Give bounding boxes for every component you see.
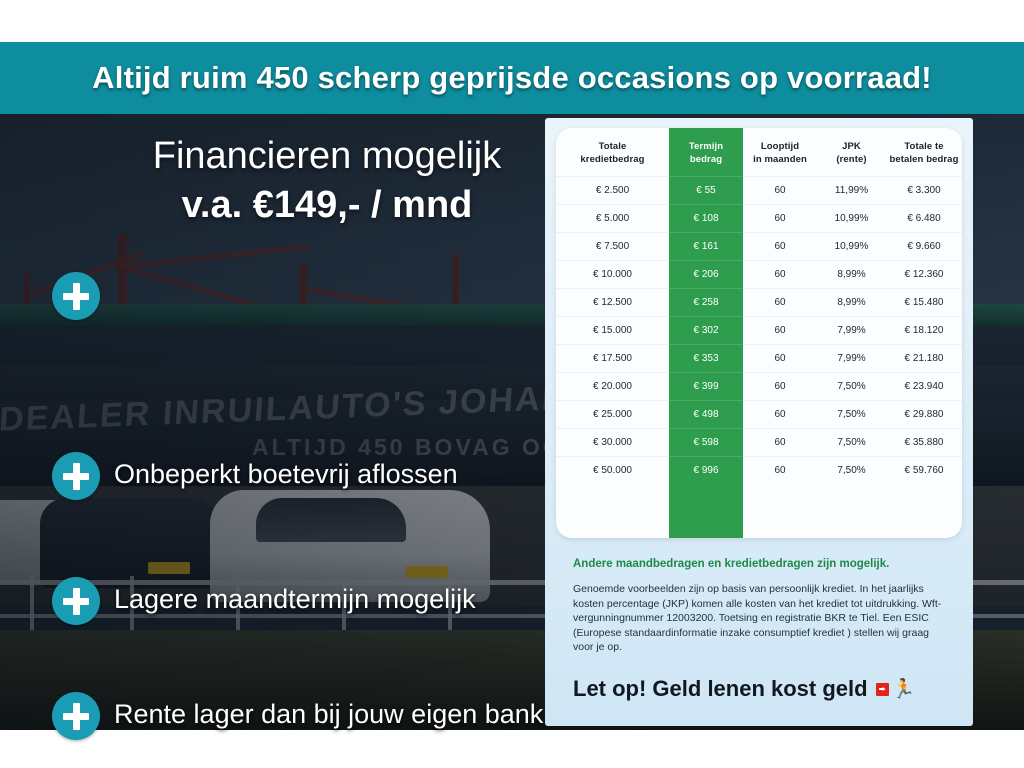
table-row: € 20.000€ 399607,50%€ 23.940	[556, 373, 962, 401]
table-cell: 60	[743, 457, 817, 485]
table-cell: 7,50%	[817, 457, 886, 485]
table-cell: € 353	[669, 345, 743, 373]
feature-item-label: Lagere maandtermijn mogelijk	[114, 584, 476, 615]
table-cell: € 35.880	[886, 429, 962, 457]
header-line: Termijn	[689, 141, 723, 152]
table-cell: 60	[743, 429, 817, 457]
header-line: betalen bedrag	[890, 154, 959, 165]
finance-table-head: Totale kredietbedrag Termijn bedrag Loop…	[556, 128, 962, 177]
table-row: € 2.500€ 556011,99%€ 3.300	[556, 177, 962, 205]
finance-info-card: Totale kredietbedrag Termijn bedrag Loop…	[545, 118, 973, 726]
column-header-termijn: Termijn bedrag	[669, 128, 743, 177]
table-cell: € 15.000	[556, 317, 669, 345]
table-cell: 8,99%	[817, 289, 886, 317]
table-cell: € 10.000	[556, 261, 669, 289]
table-cell: € 206	[669, 261, 743, 289]
table-cell: 60	[743, 177, 817, 205]
table-cell: € 55	[669, 177, 743, 205]
table-cell: € 18.120	[886, 317, 962, 345]
warning-text: Let op! Geld lenen kost geld	[573, 676, 868, 702]
column-header-totaal: Totale te betalen bedrag	[886, 128, 962, 177]
disclaimer-heading: Andere maandbedragen en kredietbedragen …	[573, 556, 945, 572]
table-cell: € 5.000	[556, 205, 669, 233]
table-cell: 60	[743, 289, 817, 317]
top-white-strip	[0, 0, 1024, 42]
headline-banner: Altijd ruim 450 scherp geprijsde occasio…	[0, 42, 1024, 114]
table-cell: € 30.000	[556, 429, 669, 457]
table-cell: € 258	[669, 289, 743, 317]
column-header-krediet: Totale kredietbedrag	[556, 128, 669, 177]
hero-line-1: Financieren mogelijk	[112, 132, 542, 180]
afm-red-box-icon	[876, 683, 889, 696]
hero-line-2: v.a. €149,- / mnd	[112, 180, 542, 230]
feature-item-label: Onbeperkt boetevrij aflossen	[114, 459, 458, 490]
column-header-looptijd: Looptijd in maanden	[743, 128, 817, 177]
plus-circle-icon	[52, 452, 100, 500]
table-header-row: Totale kredietbedrag Termijn bedrag Loop…	[556, 128, 962, 177]
header-line: Looptijd	[761, 141, 799, 152]
table-cell: 7,50%	[817, 373, 886, 401]
table-row: € 5.000€ 1086010,99%€ 6.480	[556, 205, 962, 233]
table-cell: 7,99%	[817, 345, 886, 373]
table-cell: € 498	[669, 401, 743, 429]
table-cell: € 161	[669, 233, 743, 261]
plus-circle-icon	[52, 272, 100, 320]
table-cell: 8,99%	[817, 261, 886, 289]
table-row: € 30.000€ 598607,50%€ 35.880	[556, 429, 962, 457]
afm-running-man-icon: 🏃	[876, 680, 916, 699]
table-cell: € 59.760	[886, 457, 962, 485]
table-cell: € 20.000	[556, 373, 669, 401]
finance-table: Totale kredietbedrag Termijn bedrag Loop…	[556, 128, 962, 484]
table-row: € 12.500€ 258608,99%€ 15.480	[556, 289, 962, 317]
table-cell: 11,99%	[817, 177, 886, 205]
header-line: Totale	[599, 141, 627, 152]
finance-table-card: Totale kredietbedrag Termijn bedrag Loop…	[556, 128, 962, 538]
table-cell: € 12.360	[886, 261, 962, 289]
table-cell: € 17.500	[556, 345, 669, 373]
table-cell: 60	[743, 261, 817, 289]
header-line: kredietbedrag	[580, 154, 644, 165]
table-cell: € 996	[669, 457, 743, 485]
table-cell: € 25.000	[556, 401, 669, 429]
table-cell: 60	[743, 373, 817, 401]
table-cell: € 3.300	[886, 177, 962, 205]
table-cell: 10,99%	[817, 233, 886, 261]
table-row: € 17.500€ 353607,99%€ 21.180	[556, 345, 962, 373]
table-cell: € 21.180	[886, 345, 962, 373]
table-cell: 60	[743, 205, 817, 233]
table-cell: 10,99%	[817, 205, 886, 233]
table-cell: € 598	[669, 429, 743, 457]
table-cell: € 9.660	[886, 233, 962, 261]
table-cell: 60	[743, 345, 817, 373]
column-header-jkp: JPK (rente)	[817, 128, 886, 177]
header-line: bedrag	[690, 154, 722, 165]
disclaimer-block: Andere maandbedragen en kredietbedragen …	[573, 556, 945, 655]
disclaimer-body: Genoemde voorbeelden zijn op basis van p…	[573, 582, 945, 655]
table-row: € 50.000€ 996607,50%€ 59.760	[556, 457, 962, 485]
table-cell: € 15.480	[886, 289, 962, 317]
table-cell: € 12.500	[556, 289, 669, 317]
table-cell: € 29.880	[886, 401, 962, 429]
header-line: (rente)	[836, 154, 866, 165]
running-man-glyph: 🏃	[892, 680, 916, 699]
feature-list: Financieren mogelijk v.a. €149,- / mnd O…	[0, 114, 545, 730]
table-cell: 7,50%	[817, 401, 886, 429]
table-cell: € 2.500	[556, 177, 669, 205]
table-cell: 60	[743, 317, 817, 345]
table-row: € 10.000€ 206608,99%€ 12.360	[556, 261, 962, 289]
table-cell: € 6.480	[886, 205, 962, 233]
plus-circle-icon	[52, 577, 100, 625]
warning-block: Let op! Geld lenen kost geld 🏃	[573, 676, 953, 702]
header-line: JPK	[842, 141, 861, 152]
table-cell: 60	[743, 401, 817, 429]
header-line: in maanden	[753, 154, 807, 165]
table-cell: 7,99%	[817, 317, 886, 345]
table-cell: € 7.500	[556, 233, 669, 261]
table-row: € 25.000€ 498607,50%€ 29.880	[556, 401, 962, 429]
finance-table-body: € 2.500€ 556011,99%€ 3.300€ 5.000€ 10860…	[556, 177, 962, 485]
table-cell: 60	[743, 233, 817, 261]
table-cell: € 108	[669, 205, 743, 233]
banner-text: Altijd ruim 450 scherp geprijsde occasio…	[92, 60, 932, 96]
table-cell: € 302	[669, 317, 743, 345]
table-cell: € 50.000	[556, 457, 669, 485]
advert-canvas: Altijd ruim 450 scherp geprijsde occasio…	[0, 0, 1024, 768]
hero-headline: Financieren mogelijk v.a. €149,- / mnd	[112, 132, 542, 230]
table-cell: 7,50%	[817, 429, 886, 457]
header-line: Totale te	[904, 141, 943, 152]
table-cell: € 399	[669, 373, 743, 401]
feature-item-label: Rente lager dan bij jouw eigen bank	[114, 699, 543, 730]
table-row: € 7.500€ 1616010,99%€ 9.660	[556, 233, 962, 261]
table-cell: € 23.940	[886, 373, 962, 401]
table-row: € 15.000€ 302607,99%€ 18.120	[556, 317, 962, 345]
plus-circle-icon	[52, 692, 100, 740]
